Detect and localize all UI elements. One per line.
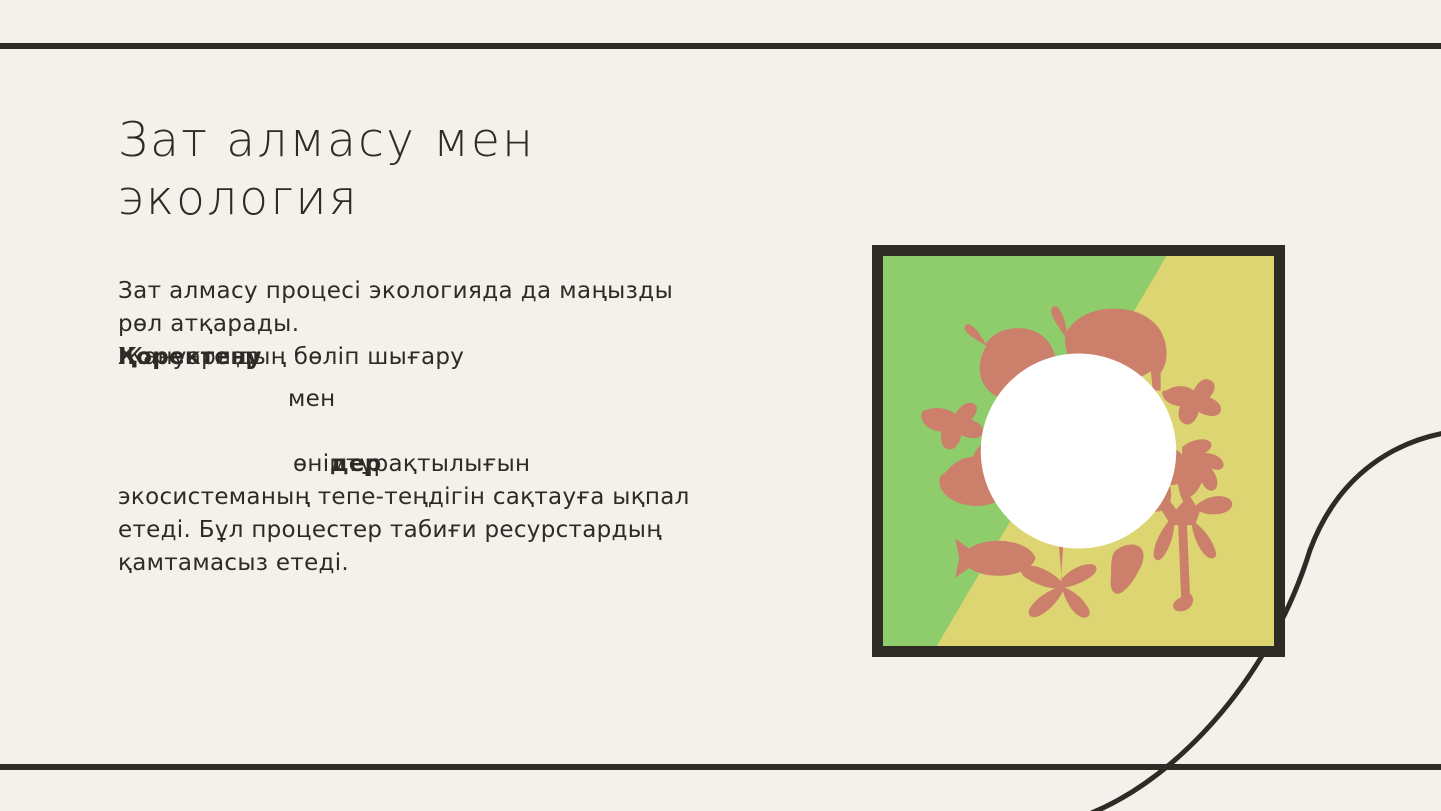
closing-paragraph: экосистеманың тепе-теңдігін сақтауға ықп… [118,481,693,580]
slide-canvas: Зат алмасу мен экология Зат алмасу проце… [0,0,1441,811]
body-paragraph: Зат алмасу процесі экологияда да маңызды… [118,275,693,341]
overlap-fragment-bolip-shygaru: дың бөліп шығару [236,341,464,374]
bottom-rule [0,764,1441,770]
text-block: Зат алмасу мен экология Зат алмасу проце… [118,112,738,632]
overlap-fragment-men: мен [288,383,335,416]
white-circle [981,354,1177,549]
animal-collage-icon [883,256,1274,646]
page-title: Зат алмасу мен экология [118,112,538,228]
picture [883,256,1274,646]
overlap-fragment-turaqtylygyn: тұрақтылығын [346,448,530,481]
top-rule [0,43,1441,49]
picture-frame [872,245,1285,657]
